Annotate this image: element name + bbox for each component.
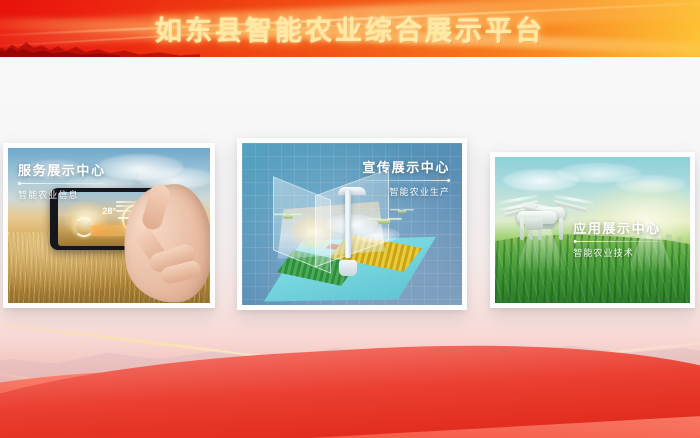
card-gallery: 28° 服务展示中心 <box>0 0 700 438</box>
card-service-subtitle: 智能农业信息 <box>18 188 106 201</box>
drone-icon <box>398 210 406 214</box>
drone-icon <box>378 219 391 224</box>
drone-leg <box>520 218 524 240</box>
caption-divider <box>362 180 450 181</box>
app-stage: 如东县智能农业综合展示平台 <box>0 0 700 438</box>
card-application-center[interactable]: 应用展示中心 智能农业技术 <box>490 152 695 308</box>
drone-body <box>398 210 406 214</box>
drone-icon <box>503 201 559 231</box>
card-promotion-center[interactable]: 宣传展示中心 智能农业生产 <box>237 138 467 310</box>
page-title: 如东县智能农业综合展示平台 <box>0 0 700 57</box>
card-application-caption: 应用展示中心 智能农业技术 <box>573 218 661 259</box>
card-application-title: 应用展示中心 <box>573 218 661 237</box>
sensor-pole <box>345 190 351 258</box>
drone-leg <box>559 218 563 240</box>
card-service-caption: 服务展示中心 智能农业信息 <box>18 160 106 201</box>
card-promotion-image: 宣传展示中心 智能农业生产 <box>242 143 462 305</box>
card-promotion-title: 宣传展示中心 <box>362 157 450 176</box>
card-promotion-subtitle: 智能农业生产 <box>362 185 450 198</box>
drone-rotor <box>367 218 382 220</box>
drone-spray-tank <box>525 218 543 230</box>
temperature-readout: 28° <box>102 206 116 216</box>
caption-divider <box>18 183 106 184</box>
sensor-pole-base <box>339 260 357 276</box>
drone-rotor <box>388 218 403 220</box>
card-application-image: 应用展示中心 智能农业技术 <box>495 157 690 303</box>
caption-divider <box>573 241 661 242</box>
drone-body <box>378 219 391 224</box>
header-banner: 如东县智能农业综合展示平台 <box>0 0 700 57</box>
card-service-title: 服务展示中心 <box>18 160 106 179</box>
card-promotion-caption: 宣传展示中心 智能农业生产 <box>362 157 450 198</box>
card-service-center[interactable]: 28° 服务展示中心 <box>3 143 215 308</box>
drone-icon <box>282 215 292 219</box>
drone-body <box>282 215 292 219</box>
card-application-subtitle: 智能农业技术 <box>573 246 661 259</box>
card-service-image: 28° 服务展示中心 <box>8 148 210 303</box>
